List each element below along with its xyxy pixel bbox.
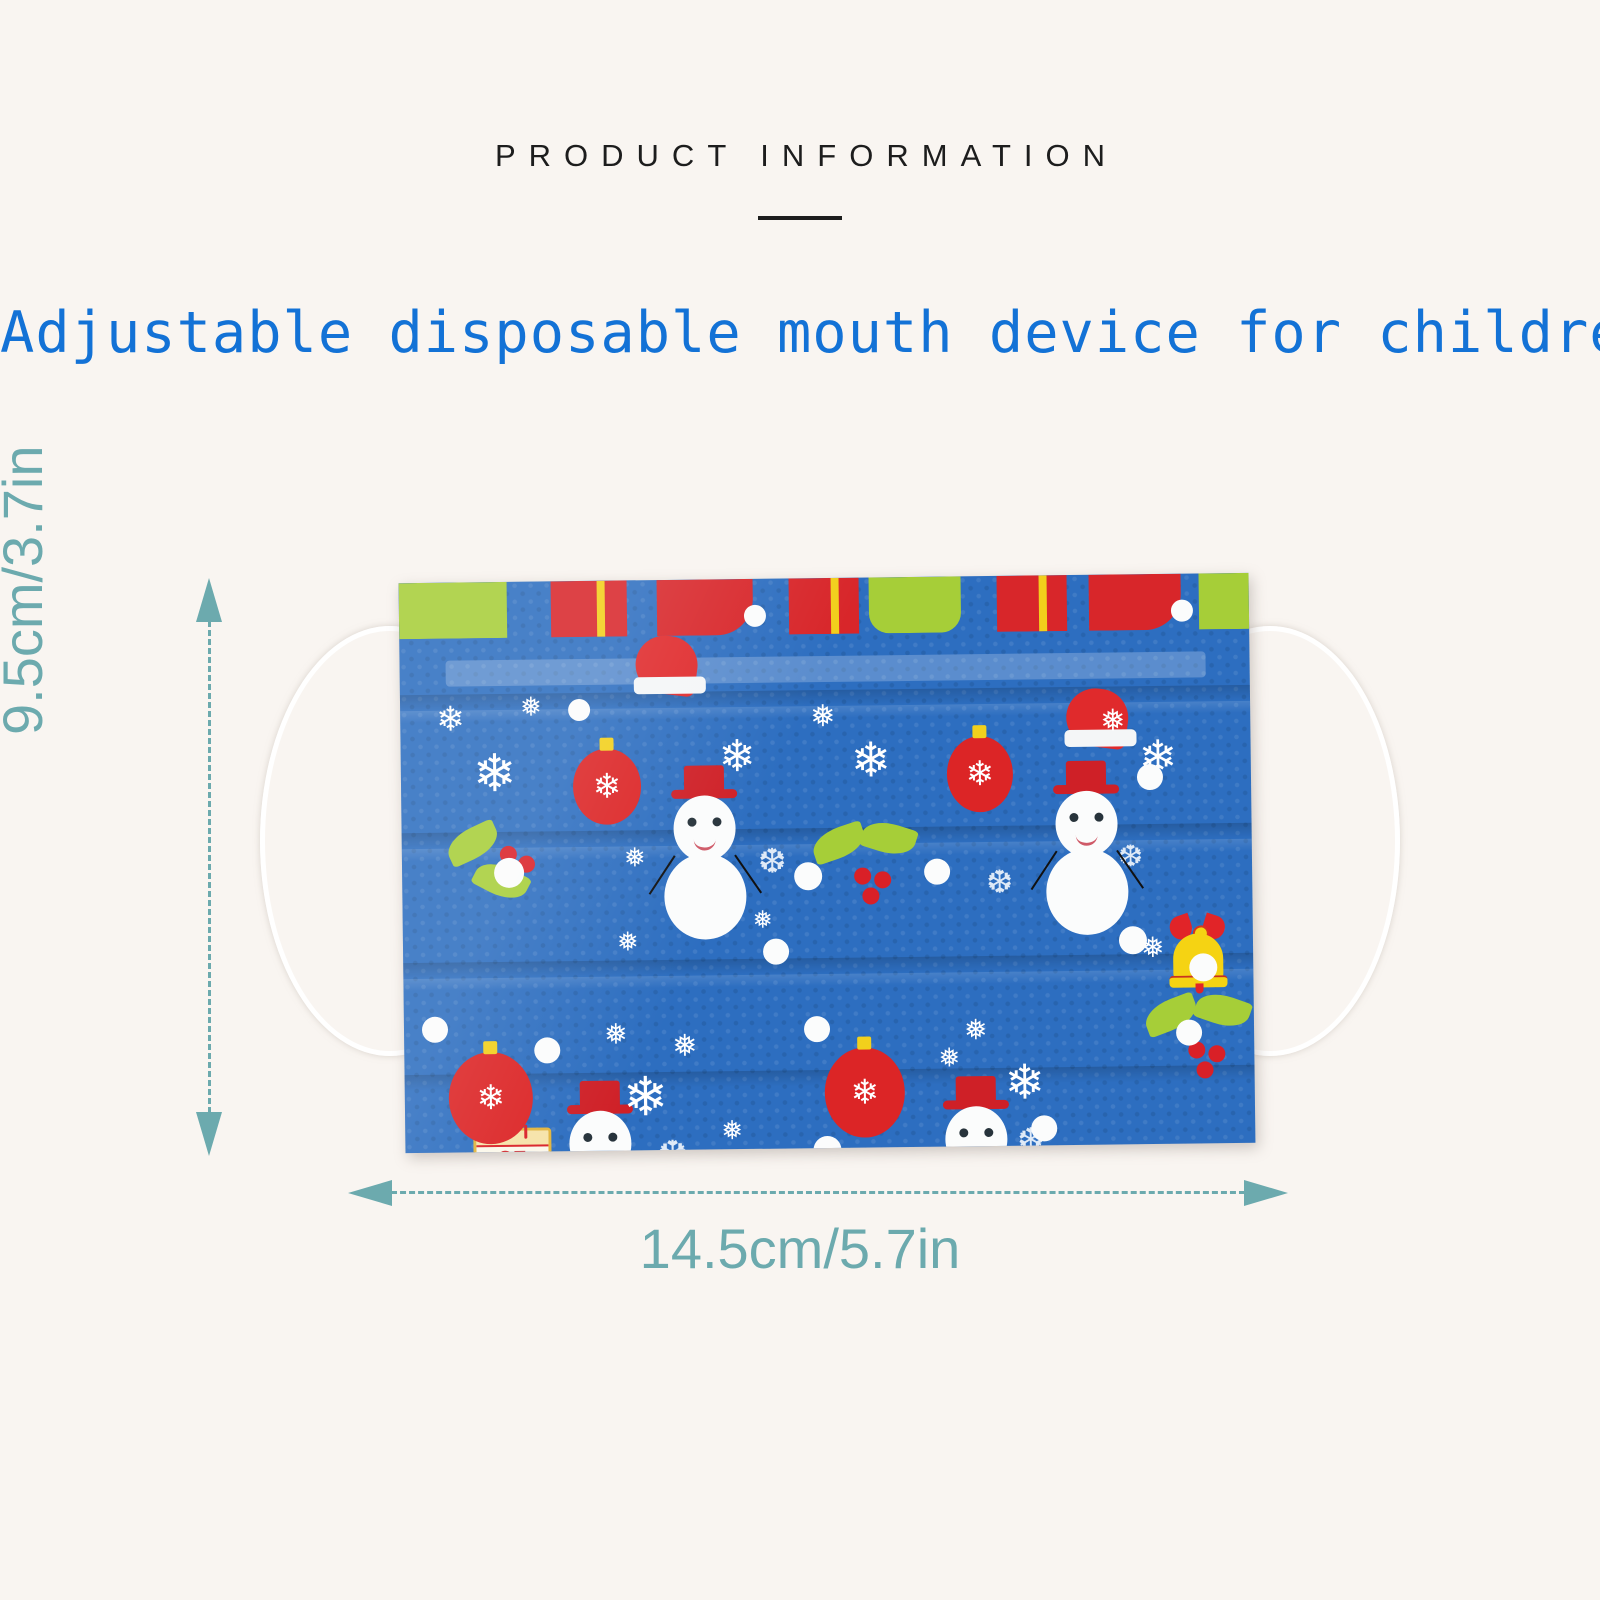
width-dashed-line [382, 1191, 1254, 1194]
page-title: Adjustable disposable mouth device for c… [0, 300, 1600, 366]
arrow-down-icon [196, 1112, 222, 1156]
product-image: ❄ ❅ ❄ ❄ ❅ ❄ ❅ ❄ ❆ ❆ ❆ ❅ ❄ ❄ [250, 560, 1410, 1170]
mask-sheen [399, 573, 1256, 1153]
header-divider [758, 216, 842, 220]
arrow-right-icon [1244, 1180, 1288, 1206]
section-kicker: PRODUCT INFORMATION [0, 138, 1600, 174]
width-label: 14.5cm/5.7in [0, 1216, 1600, 1281]
arrow-left-icon [348, 1180, 392, 1206]
height-dimension-arrow [196, 578, 222, 1156]
height-dashed-line [208, 612, 211, 1122]
arrow-up-icon [196, 578, 222, 622]
product-information-page: PRODUCT INFORMATION Adjustable disposabl… [0, 0, 1600, 1600]
width-dimension-arrow [348, 1180, 1288, 1206]
face-mask-body: ❄ ❅ ❄ ❄ ❅ ❄ ❅ ❄ ❆ ❆ ❆ ❅ ❄ ❄ [399, 573, 1256, 1153]
height-label: 9.5cm/3.7in [0, 446, 55, 736]
